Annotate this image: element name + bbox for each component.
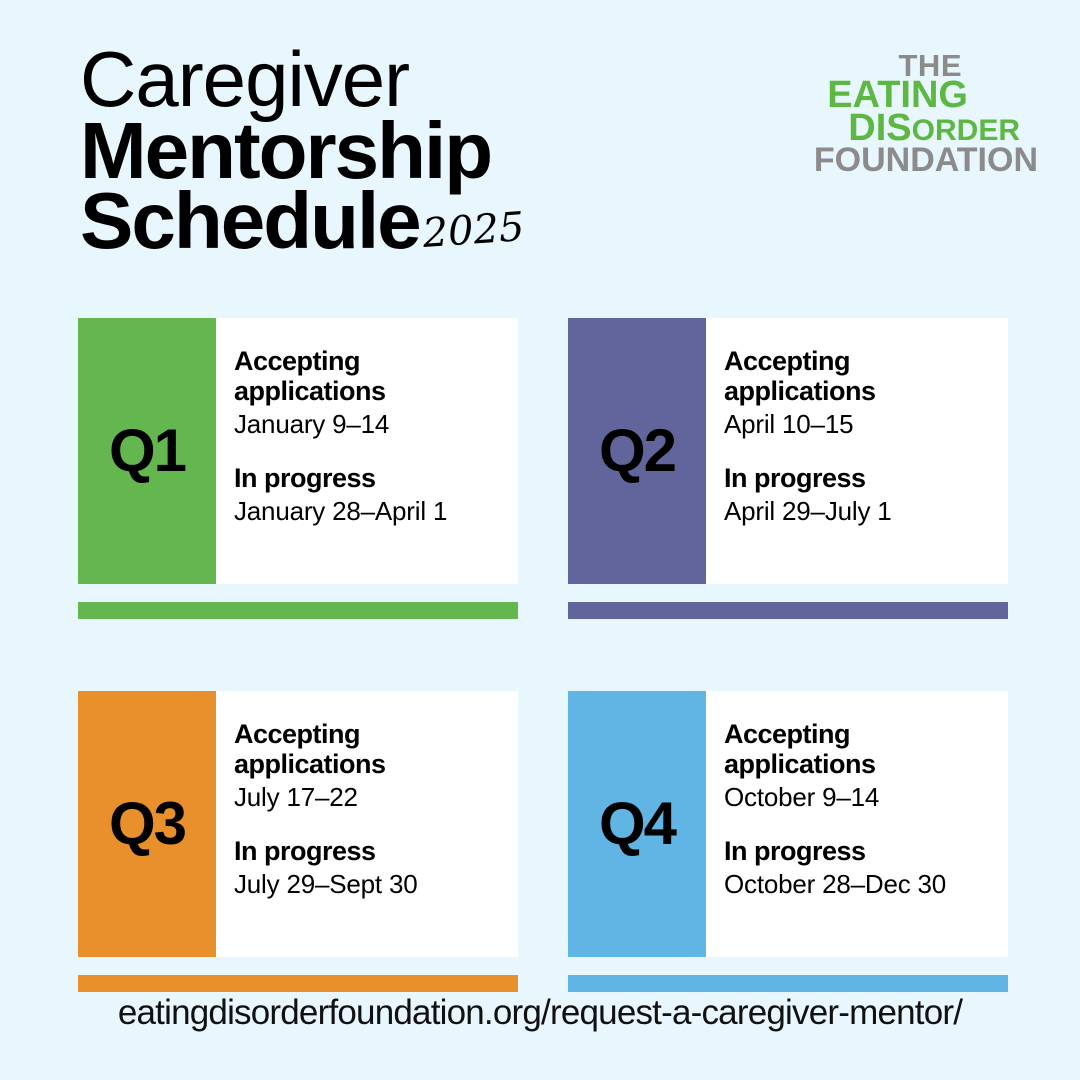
card-q2-accepting-heading: Accepting applications [724, 346, 992, 406]
card-q1-badge: Q1 [78, 318, 216, 584]
card-q3-badge: Q3 [78, 691, 216, 957]
title-year: 2025 [421, 208, 525, 253]
page-title: Caregiver Mentorship Schedule2025 [80, 42, 700, 259]
card-q2-progress-heading: In progress [724, 463, 992, 493]
title-schedule-word: Schedule [80, 183, 420, 259]
card-q4-body: Accepting applications October 9–14 In p… [706, 691, 1008, 957]
card-q2-body: Accepting applications April 10–15 In pr… [706, 318, 1008, 584]
card-q4-progress-heading: In progress [724, 836, 992, 866]
quarter-row-top: Q1 Accepting applications January 9–14 I… [78, 318, 1008, 619]
card-q2-accent-bar [568, 602, 1008, 619]
card-q2-progress-dates: April 29–July 1 [724, 496, 992, 527]
quarter-card-q4: Q4 Accepting applications October 9–14 I… [568, 691, 1008, 992]
card-q2-badge: Q2 [568, 318, 706, 584]
card-q1-spacer [234, 441, 502, 463]
card-q3-accent-bar [78, 975, 518, 992]
card-q2-accepting-dates: April 10–15 [724, 409, 992, 440]
card-q4-accepting-heading: Accepting applications [724, 719, 992, 779]
card-q1-accent-bar [78, 602, 518, 619]
card-q2-badge-label: Q2 [599, 421, 675, 481]
card-q3-accepting-heading: Accepting applications [234, 719, 502, 779]
card-q2: Q2 Accepting applications April 10–15 In… [568, 318, 1008, 584]
organization-logo: THE EATING DISORDER FOUNDATION [770, 50, 1038, 177]
footer: eatingdisorderfoundation.org/request-a-c… [0, 993, 1080, 1033]
card-q3: Q3 Accepting applications July 17–22 In … [78, 691, 518, 957]
quarter-card-q1: Q1 Accepting applications January 9–14 I… [78, 318, 518, 619]
card-q1-badge-label: Q1 [109, 421, 185, 481]
card-q1-accepting-dates: January 9–14 [234, 409, 502, 440]
card-q1: Q1 Accepting applications January 9–14 I… [78, 318, 518, 584]
card-q1-body: Accepting applications January 9–14 In p… [216, 318, 518, 584]
card-q4-spacer [724, 814, 992, 836]
header: Caregiver Mentorship Schedule2025 THE EA… [0, 0, 1080, 300]
card-q3-body: Accepting applications July 17–22 In pro… [216, 691, 518, 957]
card-q4-accepting-dates: October 9–14 [724, 782, 992, 813]
card-q1-progress-heading: In progress [234, 463, 502, 493]
card-q3-badge-label: Q3 [109, 794, 185, 854]
quarter-card-q3: Q3 Accepting applications July 17–22 In … [78, 691, 518, 992]
card-q1-progress-dates: January 28–April 1 [234, 496, 502, 527]
card-q4: Q4 Accepting applications October 9–14 I… [568, 691, 1008, 957]
card-q1-accepting-heading: Accepting applications [234, 346, 502, 406]
card-q3-accepting-dates: July 17–22 [234, 782, 502, 813]
card-q3-progress-dates: July 29–Sept 30 [234, 869, 502, 900]
quarter-row-bottom: Q3 Accepting applications July 17–22 In … [78, 691, 1008, 992]
poster-canvas: Caregiver Mentorship Schedule2025 THE EA… [0, 0, 1080, 1080]
logo-line-foundation: FOUNDATION [770, 143, 1038, 177]
card-q4-badge-label: Q4 [599, 794, 675, 854]
card-q3-spacer [234, 814, 502, 836]
card-q2-spacer [724, 441, 992, 463]
quarter-card-grid: Q1 Accepting applications January 9–14 I… [78, 318, 1008, 992]
title-line-schedule: Schedule2025 [80, 183, 700, 259]
card-q4-badge: Q4 [568, 691, 706, 957]
card-q4-accent-bar [568, 975, 1008, 992]
card-q3-progress-heading: In progress [234, 836, 502, 866]
card-q4-progress-dates: October 28–Dec 30 [724, 869, 992, 900]
quarter-card-q2: Q2 Accepting applications April 10–15 In… [568, 318, 1008, 619]
footer-url-link[interactable]: eatingdisorderfoundation.org/request-a-c… [118, 993, 962, 1032]
